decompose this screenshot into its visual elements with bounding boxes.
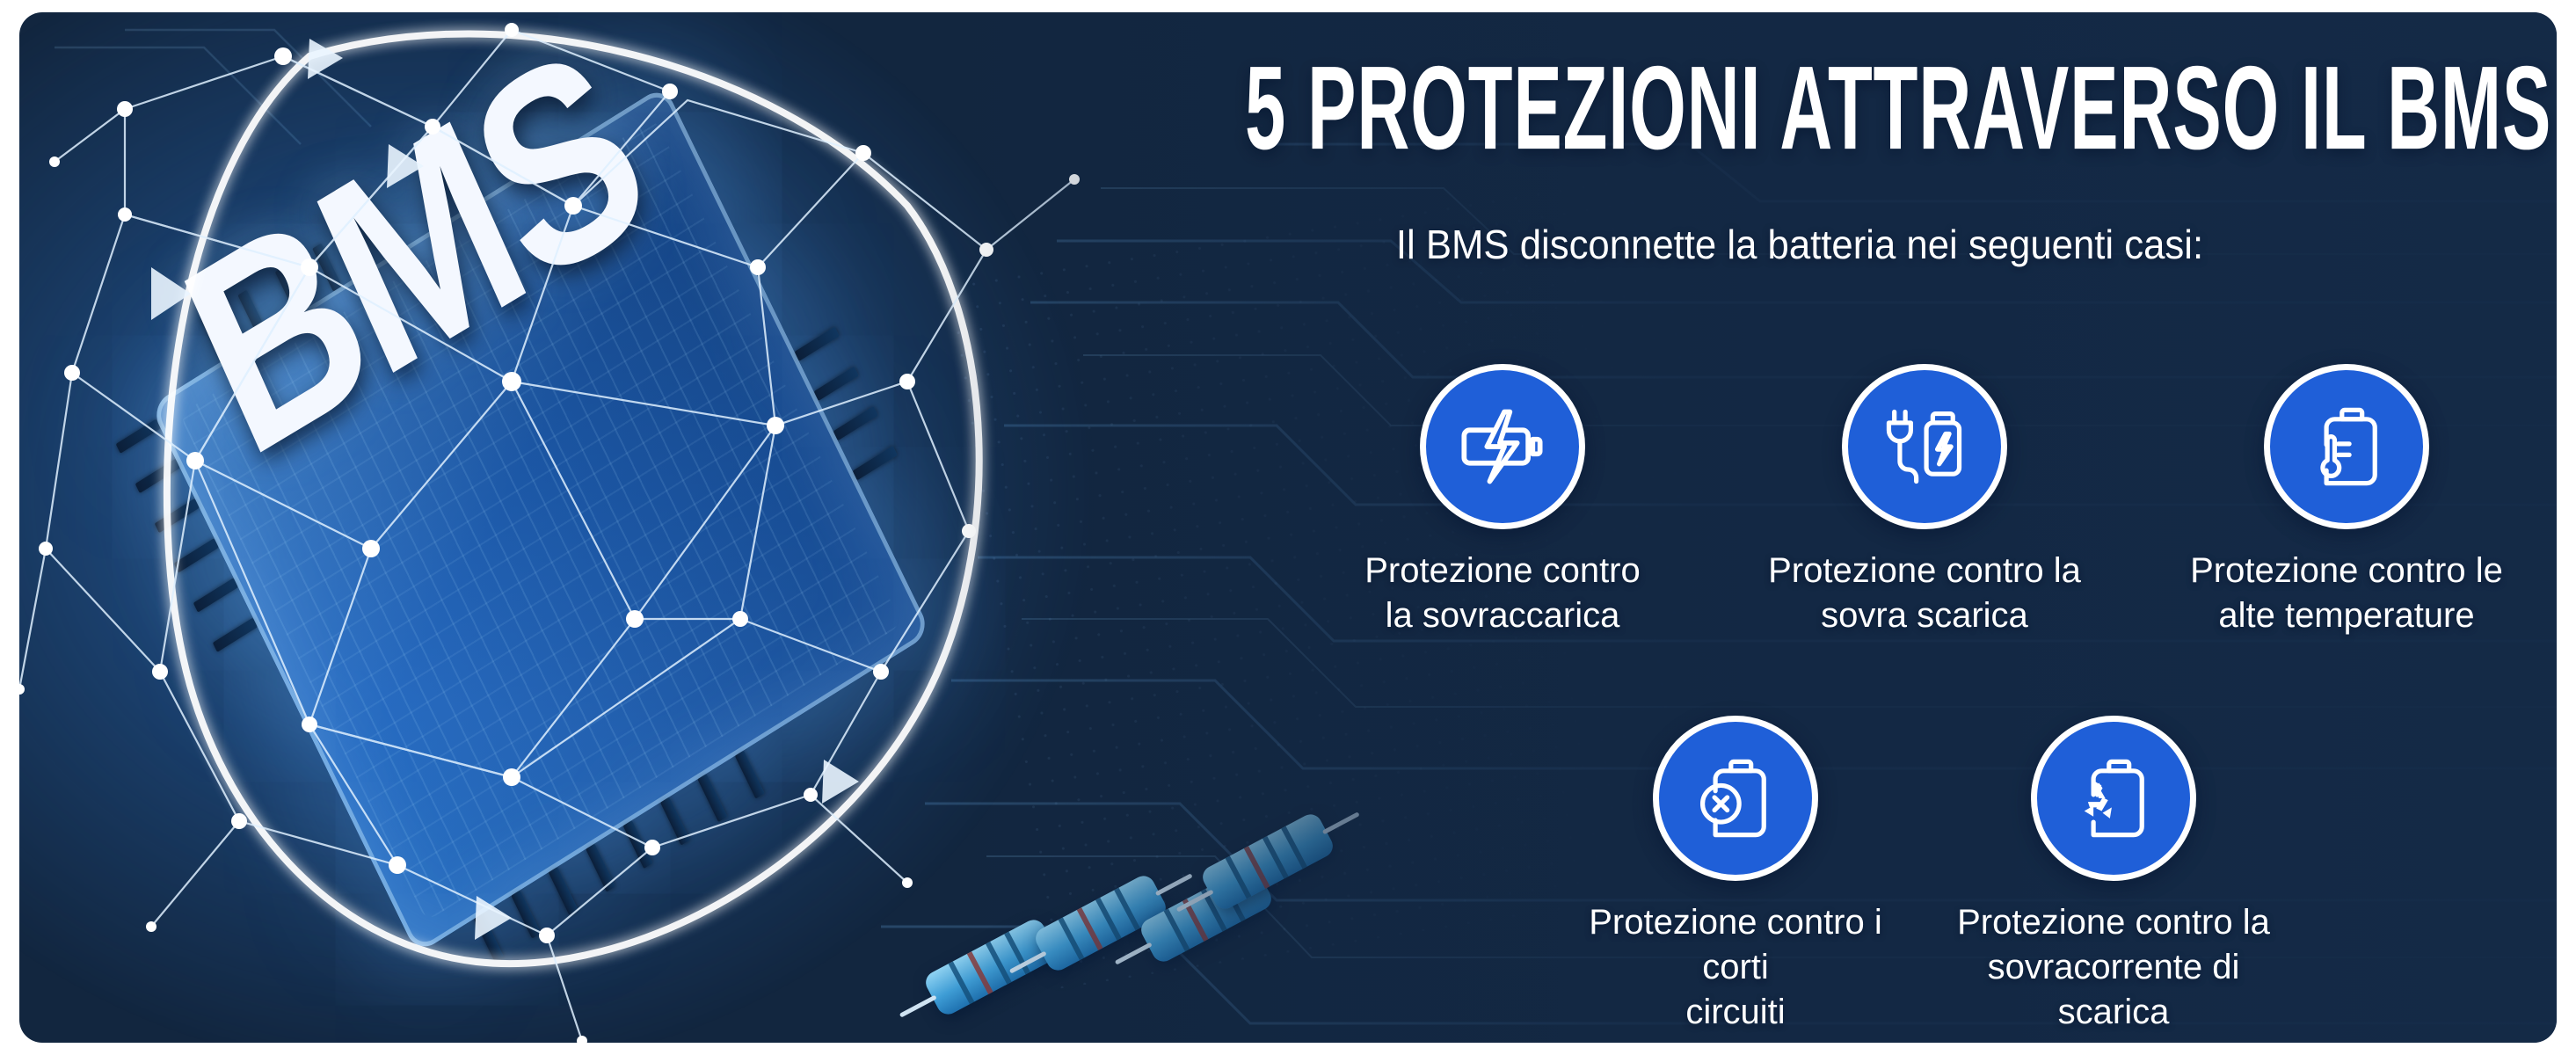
battery-short-circuit-icon	[1690, 753, 1781, 844]
protection-caption: Protezione contro la sovra scarica	[1768, 549, 2081, 638]
protections-row-bottom: Protezione contro i corti circuiti	[1560, 716, 2289, 1036]
protection-item-overdischarge[interactable]: Protezione contro la sovra scarica	[1736, 364, 2114, 638]
protection-caption: Protezione contro le alte temperature	[2190, 549, 2503, 638]
protection-icon-circle	[1842, 364, 2007, 529]
protection-icon-circle	[2031, 716, 2196, 881]
protection-item-high-temperature[interactable]: Protezione contro le alte temperature	[2158, 364, 2536, 638]
protection-item-discharge-overcurrent[interactable]: Protezione contro la sovracorrente di sc…	[1938, 716, 2289, 1036]
caption-line-2: alte temperature	[2190, 593, 2503, 638]
caption-line-2: la sovraccarica	[1364, 593, 1641, 638]
protection-item-overcharge[interactable]: Protezione contro la sovraccarica	[1313, 364, 1692, 638]
protection-item-short-circuit[interactable]: Protezione contro i corti circuiti	[1560, 716, 1911, 1036]
subtitle: Il BMS disconnette la batteria nei segue…	[1110, 221, 2489, 269]
page-title: 5 PROTEZIONI ATTRAVERSO IL BMS	[1245, 49, 2525, 168]
caption-line-1: Protezione contro	[1364, 549, 1641, 593]
bms-protections-banner: BMS	[19, 12, 2557, 1043]
protection-caption: Protezione contro la sovracorrente di sc…	[1938, 900, 2289, 1036]
caption-line-2: sovracorrente di scarica	[1938, 945, 2289, 1035]
protections-grid: Protezione contro la sovraccarica	[1296, 364, 2553, 1043]
protection-caption: Protezione contro la sovraccarica	[1364, 549, 1641, 638]
battery-overcurrent-recycle-icon	[2068, 753, 2159, 844]
protection-icon-circle	[2264, 364, 2429, 529]
protections-row-top: Protezione contro la sovraccarica	[1313, 364, 2536, 638]
caption-line-2: circuiti	[1560, 990, 1911, 1035]
caption-line-1: Protezione contro la	[1938, 900, 2289, 945]
protection-icon-circle	[1653, 716, 1818, 881]
battery-charging-icon	[1457, 401, 1548, 492]
battery-temperature-icon	[2301, 401, 2392, 492]
caption-line-1: Protezione contro la	[1768, 549, 2081, 593]
protection-icon-circle	[1420, 364, 1585, 529]
caption-line-1: Protezione contro le	[2190, 549, 2503, 593]
plug-battery-discharge-icon	[1879, 401, 1970, 492]
protection-caption: Protezione contro i corti circuiti	[1560, 900, 1911, 1036]
caption-line-2: sovra scarica	[1768, 593, 2081, 638]
caption-line-1: Protezione contro i corti	[1560, 900, 1911, 990]
